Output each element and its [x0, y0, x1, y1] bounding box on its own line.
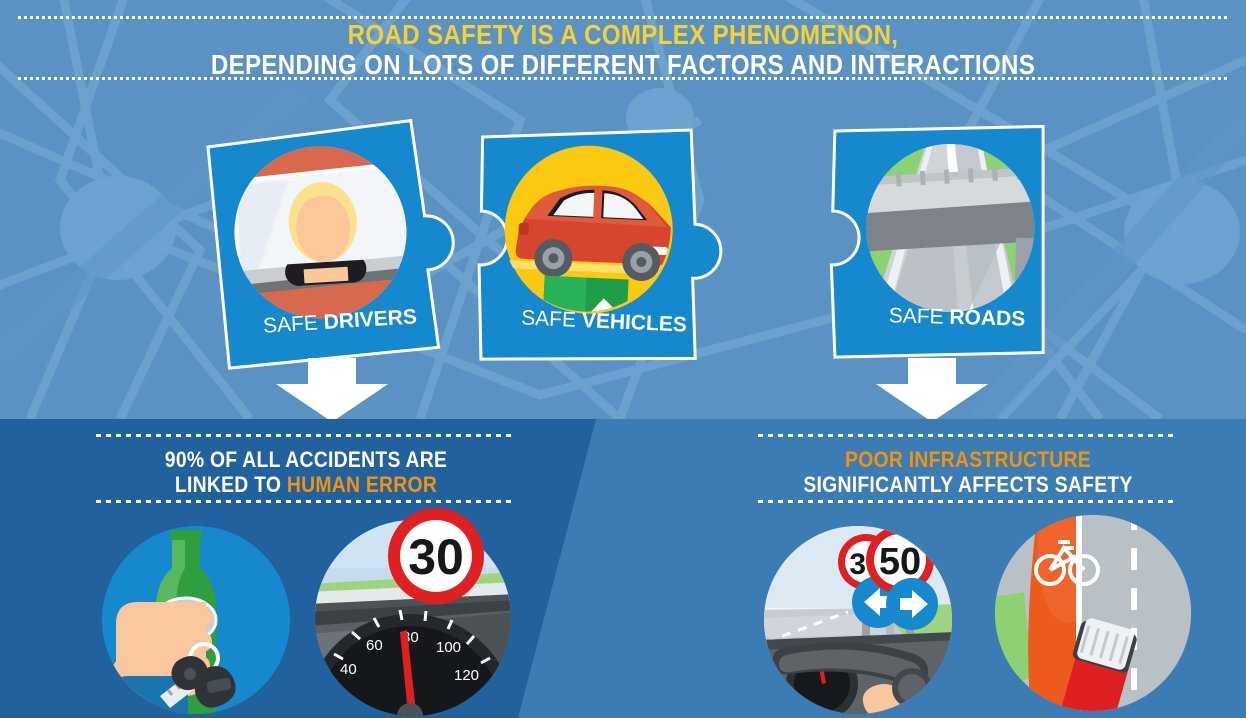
speedo-tick-20: 20	[330, 693, 347, 710]
header-rule-bottom	[18, 77, 1228, 80]
stat-rule-bottom	[96, 500, 516, 503]
speedo-tick-120: 120	[454, 667, 479, 684]
stat-line-2: LINKED TO HUMAN ERROR	[121, 473, 491, 498]
pillar-card-safe-drivers[interactable]: SAFE DRIVERS	[206, 122, 446, 362]
infographic-root: ROAD SAFETY IS A COMPLEX PHENOMENON, DEP…	[0, 0, 1246, 718]
cycle-lane-conflict-icon	[988, 508, 1198, 718]
speedometer-speeding-icon: 0 20 40 60 80 100 120 140 160 30	[308, 508, 518, 718]
stat-rule-top	[758, 434, 1178, 437]
stat-line-1-accent: POOR INFRASTRUCTURE	[783, 448, 1153, 473]
stat-block-poor-infrastructure: POOR INFRASTRUCTURE SIGNIFICANTLY AFFECT…	[758, 434, 1178, 506]
stat-text-poor-infrastructure: POOR INFRASTRUCTURE SIGNIFICANTLY AFFECT…	[758, 448, 1178, 497]
stat-line-2-accent: HUMAN ERROR	[287, 472, 437, 497]
arrow-drivers-down	[270, 358, 394, 427]
stat-line-2: SIGNIFICANTLY AFFECTS SAFETY	[783, 473, 1153, 498]
confusing-road-signs-icon: 30 50	[760, 512, 956, 718]
title-line-1: ROAD SAFETY IS A COMPLEX PHENOMENON,	[87, 20, 1159, 50]
right-arrow-sign	[886, 578, 938, 630]
speed-limit-value: 30	[408, 529, 464, 585]
stat-text-human-error: 90% OF ALL ACCIDENTS ARE LINKED TO HUMAN…	[96, 448, 516, 497]
road-sign-50-value: 50	[879, 541, 921, 583]
stat-line-2-prefix: LINKED TO	[175, 472, 287, 497]
pillar-card-safe-vehicles[interactable]: SAFE VEHICLES	[466, 118, 726, 366]
page-title: ROAD SAFETY IS A COMPLEX PHENOMENON, DEP…	[0, 20, 1246, 80]
arrow-roads-down	[870, 358, 994, 427]
stat-rule-top	[96, 434, 516, 437]
speedo-tick-60: 60	[366, 637, 383, 654]
speedo-tick-140: 140	[458, 701, 483, 718]
pillar-card-safe-roads[interactable]: SAFE ROADS	[818, 116, 1068, 362]
stat-block-human-error: 90% OF ALL ACCIDENTS ARE LINKED TO HUMAN…	[96, 434, 516, 506]
stat-rule-bottom	[758, 500, 1178, 503]
speedo-tick-40: 40	[340, 661, 357, 678]
header: ROAD SAFETY IS A COMPLEX PHENOMENON, DEP…	[0, 0, 1246, 86]
stat-line-1: 90% OF ALL ACCIDENTS ARE	[121, 448, 491, 473]
title-line-2: DEPENDING ON LOTS OF DIFFERENT FACTORS A…	[87, 50, 1159, 80]
drink-driving-bottle-keys-icon	[98, 512, 294, 718]
speed-limit-sign-30: 30	[388, 508, 484, 604]
speedo-tick-100: 100	[436, 639, 461, 656]
